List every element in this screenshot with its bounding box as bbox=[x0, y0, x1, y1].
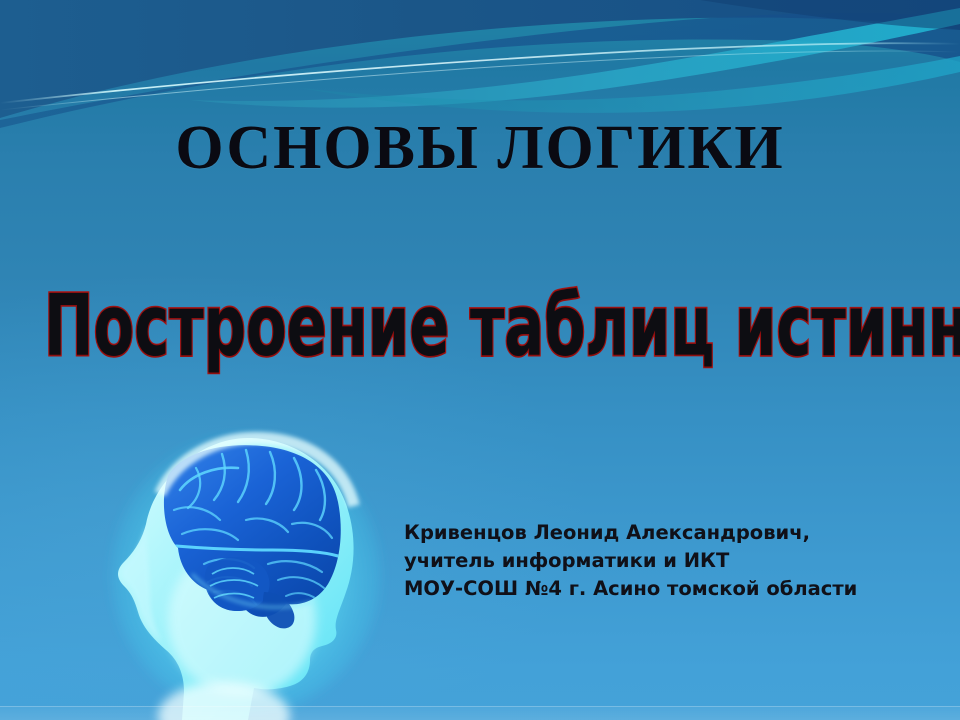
author-role: учитель информатики и ИКТ bbox=[404, 547, 952, 575]
subtitle-wordart: Построение таблиц истинности bbox=[44, 272, 748, 381]
presentation-slide: ОСНОВЫ ЛОГИКИ Построение таблиц истиннос… bbox=[0, 0, 960, 720]
page-title: ОСНОВЫ ЛОГИКИ bbox=[0, 113, 960, 184]
head-brain-illustration bbox=[96, 424, 406, 720]
subtitle-container: Построение таблиц истинности bbox=[44, 272, 924, 372]
author-name: Кривенцов Леонид Александрович, bbox=[404, 519, 952, 547]
author-school: МОУ-СОШ №4 г. Асино томской области bbox=[404, 575, 952, 603]
author-credit-block: Кривенцов Леонид Александрович, учитель … bbox=[404, 519, 952, 603]
